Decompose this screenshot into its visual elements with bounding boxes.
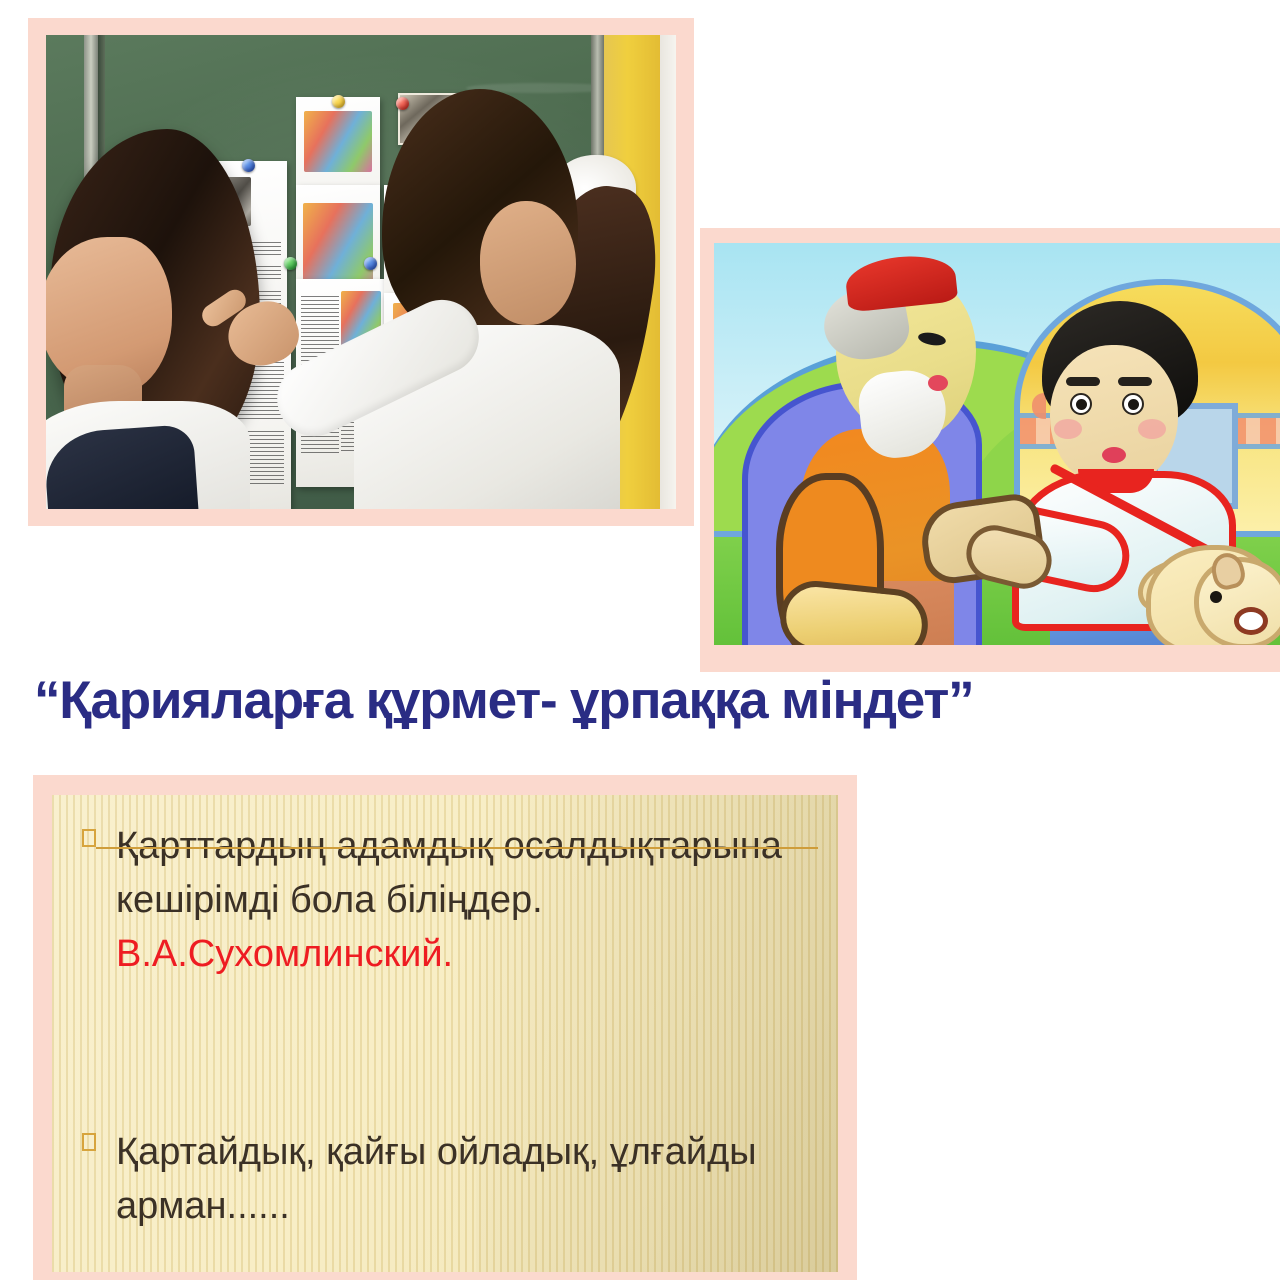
classroom-photo	[46, 35, 676, 509]
quote-1-body: Қарттардың адамдық осалдықтарына кешірім…	[116, 825, 782, 921]
student-right	[340, 89, 640, 509]
classroom-photo-frame	[28, 18, 694, 526]
boy-eye	[1122, 393, 1144, 415]
collage-title: “Қарияларға құрмет- ұрпаққа міндет”	[34, 668, 1034, 734]
quote-block-2: Қартайдық, қайғы ойладық, ұлғайды арман.…	[82, 1125, 824, 1272]
child-drawing-frame	[700, 228, 1280, 672]
quote-bullet-icon	[82, 829, 96, 847]
quote-2-text: Қартайдық, қайғы ойладық, ұлғайды арман.…	[82, 1125, 824, 1233]
elder-mouth	[928, 375, 948, 391]
boy-eye	[1070, 393, 1092, 415]
dog-eye	[1210, 591, 1222, 603]
quote-block-1: Қарттардың адамдық осалдықтарына кешірім…	[82, 819, 824, 981]
quote-bullet-icon	[82, 1133, 96, 1151]
quote-1-text: Қарттардың адамдық осалдықтарына кешірім…	[82, 819, 824, 981]
child-drawing	[714, 243, 1280, 645]
dog-mouth	[1234, 607, 1268, 635]
drawing-dog	[1146, 519, 1280, 645]
quote-rule	[96, 847, 818, 849]
incollage-watermark: InCollage	[1043, 1196, 1246, 1246]
boy-eyebrow	[1118, 377, 1152, 386]
boy-eyebrow	[1066, 377, 1100, 386]
boy-face	[1050, 345, 1178, 489]
wall-white	[660, 35, 676, 509]
quote-panel-frame: Қарттардың адамдық осалдықтарына кешірім…	[33, 775, 857, 1280]
drawing-elder	[742, 261, 1042, 645]
quote-panel: Қарттардың адамдық осалдықтарына кешірім…	[52, 795, 838, 1272]
boy-mouth	[1102, 447, 1126, 463]
boy-cheek	[1054, 419, 1082, 439]
student-right-face	[480, 201, 576, 325]
boy-cheek	[1138, 419, 1166, 439]
quote-2-body: Қартайдық, қайғы ойладық, ұлғайды арман.…	[116, 1131, 757, 1227]
quote-1-author: В.А.Сухомлинский.	[116, 933, 453, 975]
collage-canvas: “Қарияларға құрмет- ұрпаққа міндет” Қарт…	[0, 0, 1280, 1280]
